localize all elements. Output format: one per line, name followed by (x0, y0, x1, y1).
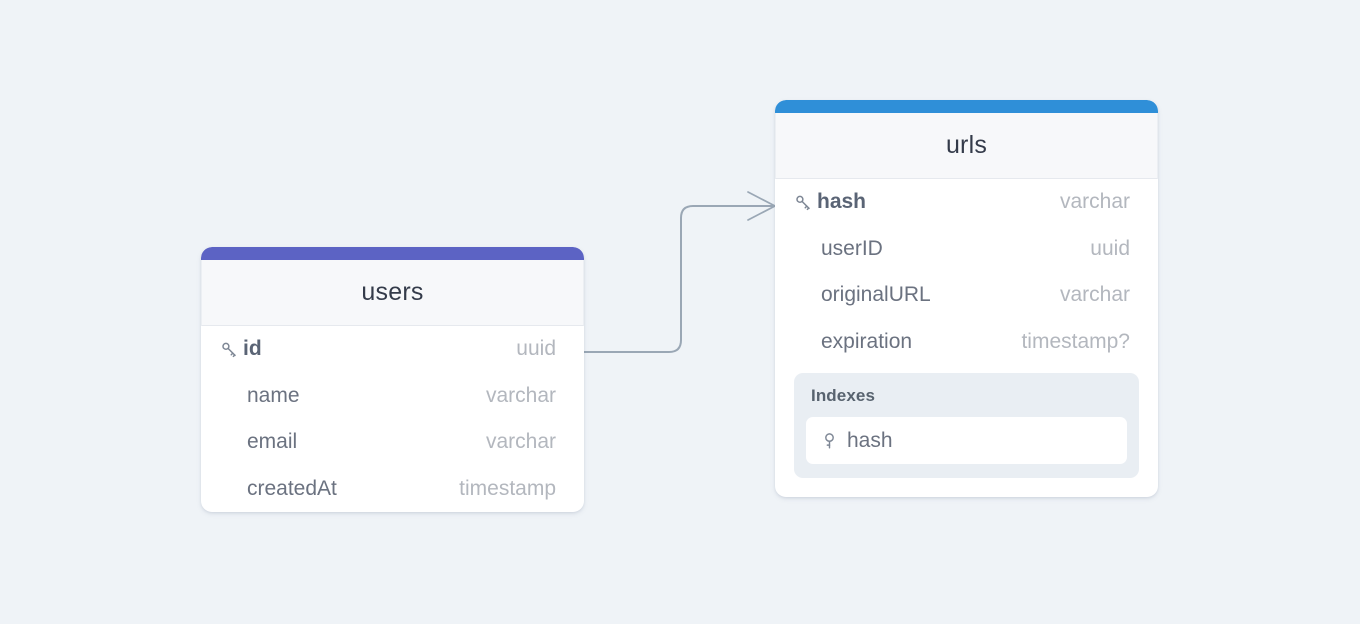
field-type-urls-hash: varchar (1060, 190, 1130, 214)
field-row-urls-userid[interactable]: userID uuid (775, 226, 1158, 273)
table-accent-bar-users (201, 247, 584, 260)
field-icon-placeholder (219, 432, 243, 452)
field-name-urls-expiration: expiration (821, 330, 912, 354)
field-row-urls-hash[interactable]: hash varchar (775, 179, 1158, 226)
field-name-users-id: id (243, 337, 262, 361)
table-header-users: users (201, 260, 584, 326)
field-name-urls-originalurl: originalURL (821, 283, 931, 307)
field-type-users-email: varchar (486, 430, 556, 454)
field-row-users-email[interactable]: email varchar (201, 419, 584, 466)
key-icon (793, 192, 813, 212)
field-name-users-name: name (247, 384, 300, 408)
field-row-users-createdat[interactable]: createdAt timestamp (201, 466, 584, 513)
diagram-canvas: users id uuid name varchar (0, 0, 1360, 624)
field-row-urls-originalurl[interactable]: originalURL varchar (775, 272, 1158, 319)
field-row-users-name[interactable]: name varchar (201, 373, 584, 420)
field-icon-placeholder (219, 479, 243, 499)
field-row-users-id[interactable]: id uuid (201, 326, 584, 373)
field-type-urls-expiration: timestamp? (1021, 330, 1130, 354)
index-label-hash: hash (847, 429, 893, 453)
field-icon-placeholder (793, 285, 817, 305)
field-type-users-name: varchar (486, 384, 556, 408)
field-name-users-email: email (247, 430, 297, 454)
key-icon (219, 339, 239, 359)
field-row-urls-expiration[interactable]: expiration timestamp? (775, 319, 1158, 366)
field-list-users: id uuid name varchar email varchar creat… (201, 326, 584, 512)
field-type-users-id: uuid (516, 337, 556, 361)
field-icon-placeholder (793, 239, 817, 259)
table-header-urls: urls (775, 113, 1158, 179)
field-icon-placeholder (793, 332, 817, 352)
index-item-hash[interactable]: hash (806, 417, 1127, 464)
table-card-users[interactable]: users id uuid name varchar (201, 247, 584, 512)
table-card-urls[interactable]: urls hash varchar userID uuid (775, 100, 1158, 497)
index-key-icon (820, 431, 838, 451)
field-icon-placeholder (219, 386, 243, 406)
indexes-panel-urls: Indexes hash (794, 373, 1139, 478)
field-type-users-createdat: timestamp (459, 477, 556, 501)
crows-foot-marker (748, 192, 775, 220)
table-title-users: users (361, 278, 423, 307)
field-list-urls: hash varchar userID uuid originalURL var… (775, 179, 1158, 365)
field-type-urls-originalurl: varchar (1060, 283, 1130, 307)
relationship-line-users-id-to-urls-hash (584, 206, 773, 352)
table-title-urls: urls (946, 131, 987, 160)
table-accent-bar-urls (775, 100, 1158, 113)
field-name-urls-hash: hash (817, 190, 866, 214)
field-type-urls-userid: uuid (1090, 237, 1130, 261)
indexes-panel-title: Indexes (811, 386, 1127, 406)
field-name-urls-userid: userID (821, 237, 883, 261)
field-name-users-createdat: createdAt (247, 477, 337, 501)
